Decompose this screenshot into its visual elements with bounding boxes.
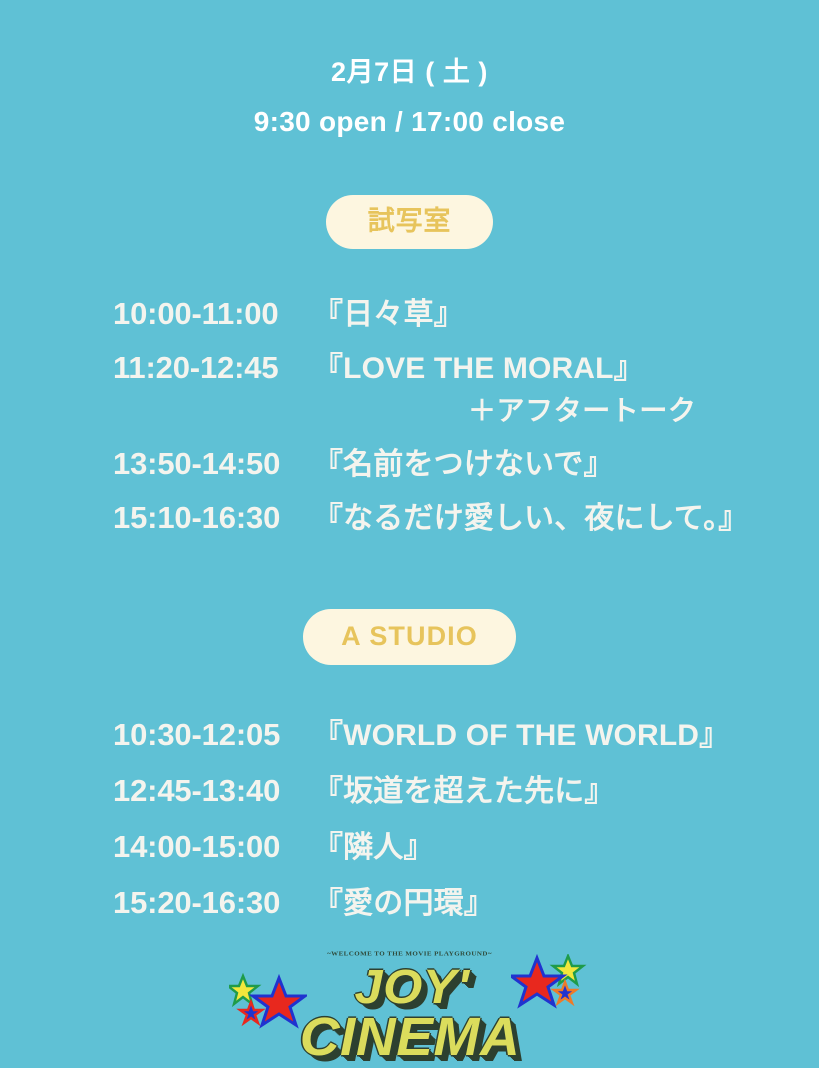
schedule-row-note: ＋アフタートーク [113,389,789,429]
star-cluster-right [511,954,589,1012]
header: 2月7日 ( 土 ) 9:30 open / 17:00 close [0,56,819,139]
section-2-badge: A STUDIO [303,609,516,665]
star-small-red-icon [240,1002,262,1023]
row-title: 『隣人』 [313,822,434,866]
row-time: 11:20-12:45 [113,350,313,386]
row-time: 12:45-13:40 [113,773,313,809]
row-time: 15:10-16:30 [113,500,313,536]
row-title: 『名前をつけないで』 [313,439,614,483]
star-small-yellow-icon [229,976,258,1004]
row-title: 『坂道を超えた先に』 [313,766,615,810]
schedule-row: 10:00-11:00 『日々草』 [113,289,789,333]
section-2-badge-wrap: A STUDIO [0,609,819,665]
section-1-schedule: 10:00-11:00 『日々草』 11:20-12:45 『LOVE THE … [0,289,819,547]
poster-canvas: 2月7日 ( 土 ) 9:30 open / 17:00 close 試写室 1… [0,0,819,1024]
event-hours: 9:30 open / 17:00 close [0,105,819,139]
row-time: 10:30-12:05 [113,717,313,753]
joy-cinema-logo: ~WELCOME TO THE MOVIE PLAYGROUND~ JOY' C… [245,948,575,1024]
row-title: 『日々草』 [313,289,464,333]
schedule-row: 15:10-16:30 『なるだけ愛しい、夜にして。』 [113,493,789,537]
schedule-row: 12:45-13:40 『坂道を超えた先に』 [113,766,789,810]
row-time: 10:00-11:00 [113,296,313,332]
row-time: 15:20-16:30 [113,885,313,921]
row-time: 14:00-15:00 [113,829,313,865]
row-note: ＋アフタートーク [468,389,696,429]
row-title: 『なるだけ愛しい、夜にして。』 [313,493,748,537]
schedule-row: 13:50-14:50 『名前をつけないで』 [113,439,789,483]
row-title: 『愛の円環』 [313,878,494,922]
row-time: 13:50-14:50 [113,446,313,482]
star-small-blue-icon [554,982,576,1003]
section-1-badge: 試写室 [326,195,493,249]
schedule-row: 14:00-15:00 『隣人』 [113,822,789,866]
section-2-schedule: 10:30-12:05 『WORLD OF THE WORLD』 12:45-1… [0,710,819,934]
row-title: 『WORLD OF THE WORLD』 [313,710,729,754]
schedule-row: 10:30-12:05 『WORLD OF THE WORLD』 [113,710,789,754]
section-1-badge-wrap: 試写室 [0,195,819,249]
row-title: 『LOVE THE MORAL』 [313,343,644,387]
star-cluster-left [229,972,307,1030]
schedule-row: 11:20-12:45 『LOVE THE MORAL』 [113,343,789,387]
event-date: 2月7日 ( 土 ) [0,56,819,88]
schedule-row: 15:20-16:30 『愛の円環』 [113,878,789,922]
